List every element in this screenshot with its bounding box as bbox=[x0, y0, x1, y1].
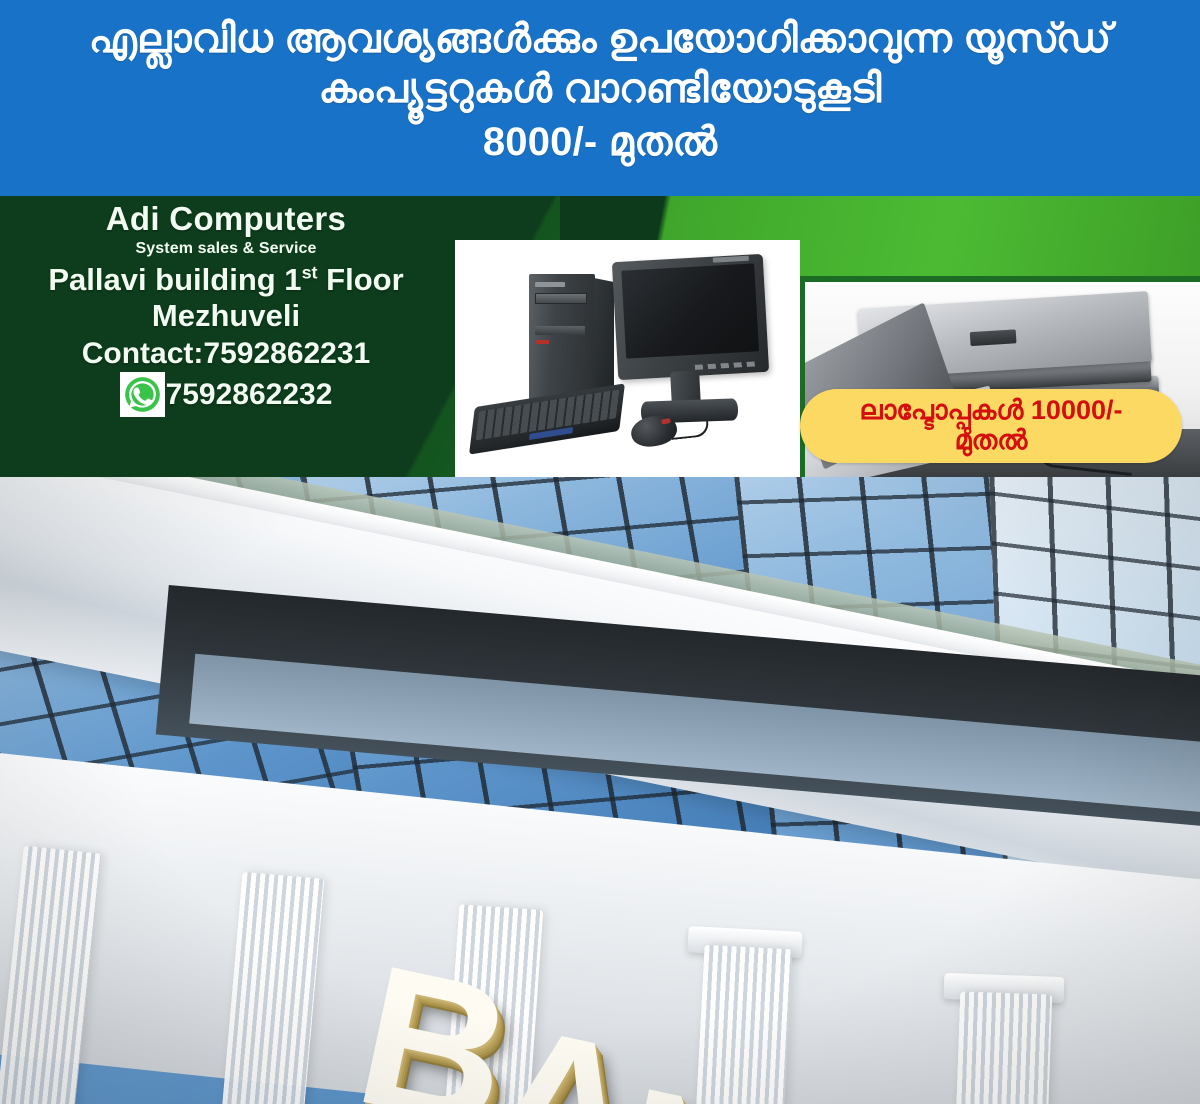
address-prefix: Pallavi building 1 bbox=[48, 262, 301, 297]
pc-power-led bbox=[536, 340, 549, 344]
laptop-price-line-1: ലാപ്ടോപ്പുകൾ 10000/- bbox=[860, 397, 1123, 425]
address-suffix: Floor bbox=[318, 262, 404, 297]
laptop-price-badge: ലാപ്ടോപ്പുകൾ 10000/- മുതൽ bbox=[800, 389, 1182, 463]
monitor-buttons bbox=[695, 361, 759, 370]
store-contact-number[interactable]: Contact:7592862231 bbox=[0, 337, 452, 370]
headline-price-line: 8000/- മുതൽ bbox=[483, 121, 717, 164]
pc-tower-graphic bbox=[529, 274, 595, 405]
headline-banner: എല്ലാവിധ ആവശ്യങ്ങൾക്കും ഉപയോഗിക്കാവുന്ന … bbox=[0, 0, 1200, 196]
headline-line-1: എല്ലാവിധ ആവശ്യങ്ങൾക്കും ഉപയോഗിക്കാവുന്ന … bbox=[10, 18, 1190, 61]
pc-tower-logo bbox=[535, 282, 565, 287]
mouse-cable bbox=[670, 420, 709, 440]
advertisement-poster: എല്ലാവിധ ആവശ്യങ്ങൾക്കും ഉപയോഗിക്കാവുന്ന … bbox=[0, 0, 1200, 1104]
store-name: Adi Computers bbox=[0, 200, 452, 239]
monitor-screen bbox=[621, 263, 759, 358]
pc-front-bay bbox=[535, 326, 585, 335]
store-whatsapp-number[interactable]: 7592862232 bbox=[166, 378, 333, 412]
store-info-band: Adi Computers System sales & Service Pal… bbox=[0, 196, 1200, 477]
pc-monitor-graphic bbox=[612, 254, 769, 380]
headline-line-2: കംപ്യൂട്ടറുകൾ വാറണ്ടിയോടുകൂടി bbox=[10, 68, 1190, 111]
store-tagline: System sales & Service bbox=[0, 240, 452, 258]
address-ordinal: st bbox=[302, 263, 318, 283]
store-details: Adi Computers System sales & Service Pal… bbox=[0, 196, 452, 477]
monitor-brand-mark bbox=[713, 256, 749, 263]
bank-building-photo: B A N K bbox=[0, 477, 1200, 1104]
store-whatsapp-row[interactable]: 7592862232 bbox=[0, 372, 452, 417]
whatsapp-icon[interactable] bbox=[120, 372, 165, 417]
pc-optical-drive bbox=[535, 293, 587, 304]
desktop-computer-photo bbox=[455, 240, 800, 477]
store-address-line-1: Pallavi building 1st Floor bbox=[0, 263, 452, 297]
store-address-line-2: Mezhuveli bbox=[0, 299, 452, 333]
laptop-price-line-2: മുതൽ bbox=[955, 427, 1028, 455]
fluted-column-5 bbox=[956, 991, 1052, 1104]
